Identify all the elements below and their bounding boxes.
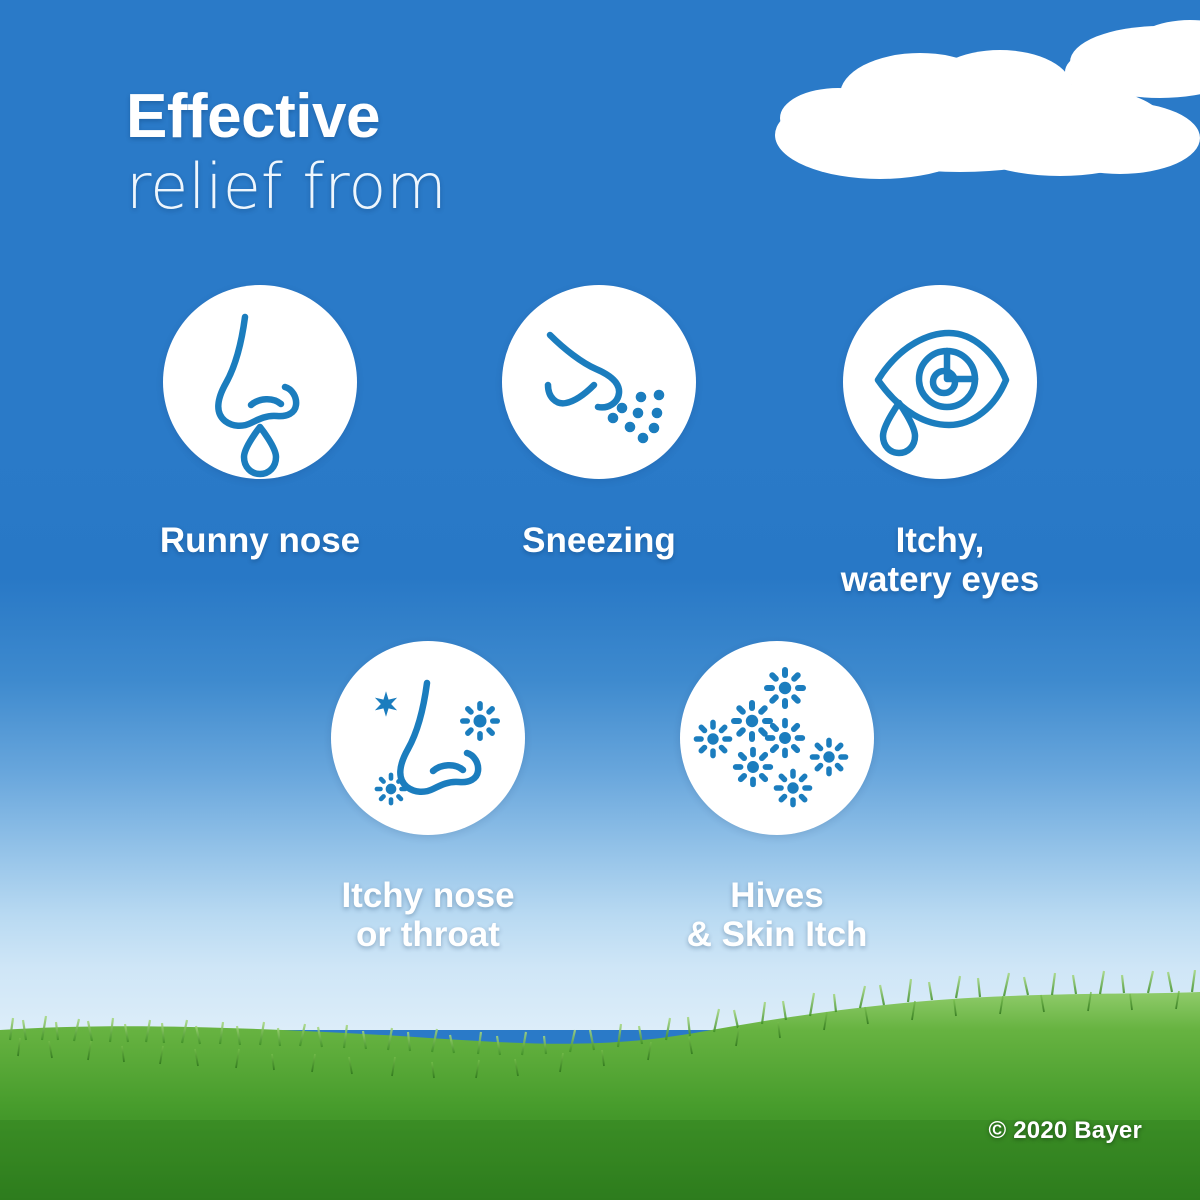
nose-with-pollen-icon — [331, 641, 525, 835]
symptom-label-itchy-watery-eyes: Itchy, watery eyes — [790, 521, 1090, 599]
symptom-label-runny-nose: Runny nose — [110, 521, 410, 560]
copyright-notice: © 2020 Bayer — [988, 1117, 1142, 1145]
eye-with-tear-icon — [843, 285, 1037, 479]
grass-field — [0, 970, 1200, 1200]
page-title: Effective relief from — [126, 86, 447, 218]
pollen-star-icon — [375, 773, 408, 806]
pollen-star-icon — [460, 701, 500, 741]
nose-sneeze-spray-icon — [502, 285, 696, 479]
headline-line-2: relief from — [126, 156, 447, 218]
cloud-icon — [1065, 20, 1200, 98]
symptom-itchy-watery-eyes[interactable] — [843, 285, 1037, 479]
hives-clusters-icon — [680, 641, 874, 835]
symptom-runny-nose[interactable] — [163, 285, 357, 479]
allergy-relief-poster: Effective relief from Runny nose — [0, 0, 1200, 1200]
symptom-hives-skin-itch[interactable] — [680, 641, 874, 835]
nose-with-drip-icon — [163, 285, 357, 479]
symptom-label-hives-skin-itch: Hives & Skin Itch — [627, 876, 927, 954]
symptom-label-itchy-nose-or-throat: Itchy nose or throat — [278, 876, 578, 954]
symptom-itchy-nose-or-throat[interactable] — [331, 641, 525, 835]
symptom-label-sneezing: Sneezing — [449, 521, 749, 560]
symptom-sneezing[interactable] — [502, 285, 696, 479]
headline-line-1: Effective — [126, 86, 447, 148]
